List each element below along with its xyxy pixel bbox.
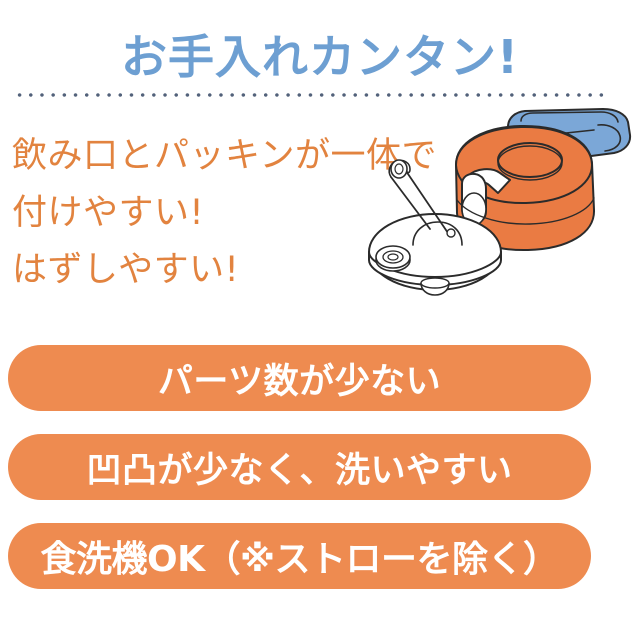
dotted-divider <box>14 93 604 97</box>
page-title: お手入れカンタン! <box>0 30 640 84</box>
feature-pill-1-label: パーツ数が少ない <box>158 353 441 404</box>
feature-pill-2-label: 凹凸が少なく、洗いやすい <box>86 442 512 493</box>
feature-pill-3-label: 食洗機OK（※ストローを除く） <box>41 530 559 582</box>
feature-pill-2[interactable]: 凹凸が少なく、洗いやすい <box>8 434 591 500</box>
feature-pill-3[interactable]: 食洗機OK（※ストローを除く） <box>8 523 591 589</box>
cap-and-gasket-illustration <box>358 105 640 310</box>
feature-pill-1[interactable]: パーツ数が少ない <box>8 345 591 411</box>
infographic-page: お手入れカンタン! 飲み口とパッキンが一体で 付けやすい! はずしやすい! <box>0 0 640 640</box>
